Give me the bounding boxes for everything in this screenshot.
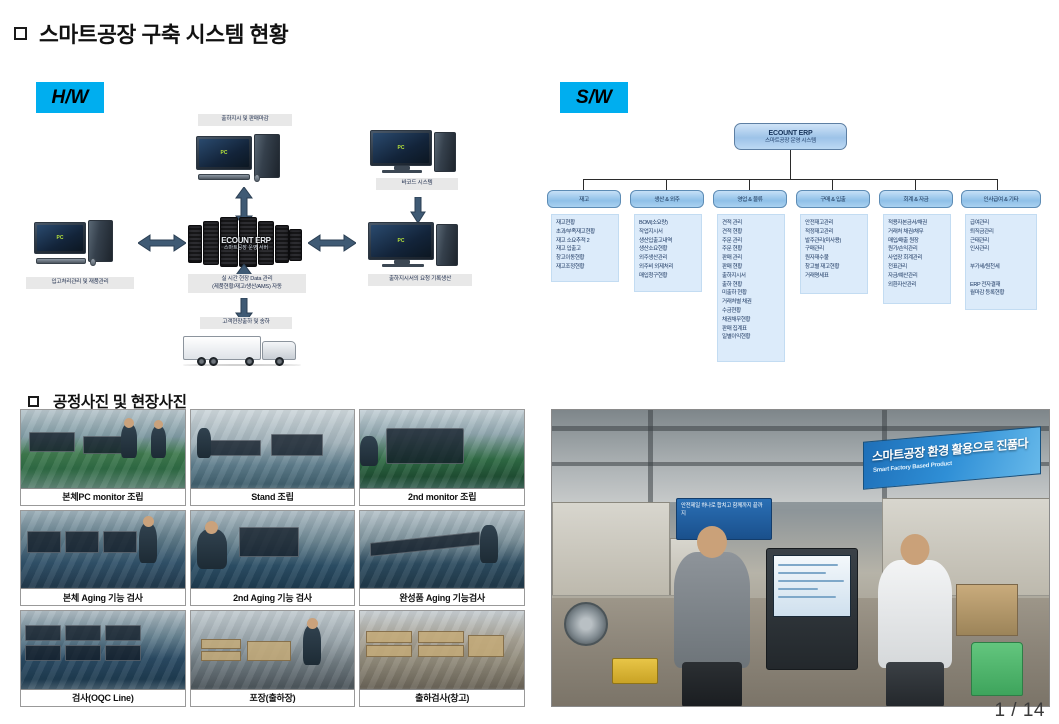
section-chip-software: S/W <box>560 82 628 113</box>
factory-person-left-legs <box>682 662 742 707</box>
photo-caption: 완성품 Aging 기능검사 <box>360 588 524 605</box>
photo-cell: 검사(OQC Line) <box>20 610 186 707</box>
hw-label-bottom: 고객현장출하 및 송하 <box>200 317 292 329</box>
factory-person-left <box>674 552 750 668</box>
photo-cell: 본체 Aging 기능 검사 <box>20 510 186 607</box>
photo-cell: 출하검사(창고) <box>359 610 525 707</box>
sw-header-production[interactable]: 생산 & 외주 <box>630 190 704 208</box>
photo-caption: 본체 Aging 기능 검사 <box>21 588 185 605</box>
roof-column <box>648 410 653 502</box>
hw-label-top: 출하지시 및 판매마감 <box>198 114 292 126</box>
hardware-architecture-diagram: 출하지시 및 판매마감 입고처리관리 및 재품관리 ECOUNT ERP <box>20 112 520 374</box>
hw-arrow-right-vertical <box>410 197 426 223</box>
photo-cell: 2nd Aging 기능 검사 <box>190 510 356 607</box>
factory-kiosk-terminal <box>766 548 858 670</box>
hw-device-top-pc <box>192 134 298 184</box>
sw-header-inventory[interactable]: 재고 <box>547 190 621 208</box>
page-number: 1 / 14 <box>994 700 1045 722</box>
bullet-square-icon-2 <box>28 396 39 407</box>
photo-caption: 2nd Aging 기능 검사 <box>191 588 355 605</box>
photo-caption: 출하검사(창고) <box>360 689 524 706</box>
sw-items-hr: 급여관리 퇴직금관리 근태관리 인사관리 부가세/원천세 ERP 전자결재 월마… <box>965 214 1037 310</box>
bullet-square-icon <box>14 27 27 40</box>
hw-label-left: 입고처리관리 및 재품관리 <box>26 277 134 289</box>
photo-caption: 검사(OQC Line) <box>21 689 185 706</box>
process-photo-grid: 본체PC monitor 조립 Stand 조립 2nd monitor 조립 … <box>20 409 525 707</box>
hw-device-barcode-monitor <box>370 130 464 176</box>
hw-arrow-left <box>138 234 186 252</box>
photo-caption: 포장(출하장) <box>191 689 355 706</box>
sw-items-sales: 견적 관리 견적 현황 주문 관리 주문 현황 판매 관리 판매 현황 출하지시… <box>717 214 785 362</box>
hw-device-left-pc <box>32 220 136 272</box>
sw-root-subtitle: 스마트공장 운영 시스템 <box>765 136 816 144</box>
factory-safety-sign-text: 안전제일 하나로 합치고 함께까지 끝까지 <box>681 502 767 518</box>
hw-arrow-right <box>308 234 356 252</box>
sw-connector-bus <box>583 179 998 180</box>
sw-header-purchasing[interactable]: 구매 & 입출 <box>796 190 870 208</box>
section-chip-hardware: H/W <box>36 82 104 113</box>
factory-yellow-bin <box>612 658 658 684</box>
factory-wall-left <box>552 502 670 596</box>
factory-site-photo: 스마트공장 환경 활용으로 진품다 Smart Factory Based Pr… <box>551 409 1050 707</box>
sw-header-sales[interactable]: 영업 & 물류 <box>713 190 787 208</box>
photo-cell: 완성품 Aging 기능검사 <box>359 510 525 607</box>
photo-caption: 본체PC monitor 조립 <box>21 488 185 505</box>
hw-device-delivery-truck <box>183 334 311 370</box>
factory-green-chair <box>971 642 1023 696</box>
photo-cell: Stand 조립 <box>190 409 356 506</box>
hw-label-right-bottom: 출하지시서의 요청 기록생산 <box>368 274 472 286</box>
hw-central-server: ECOUNT ERP 스마트공장 운영 서버 <box>188 217 304 269</box>
software-module-chart: ECOUNT ERP 스마트공장 운영 시스템 재고 생산 & 외주 영업 & … <box>545 118 1050 378</box>
hw-server-subtitle: 스마트공장 운영 서버 <box>188 244 304 251</box>
photo-cell: 포장(출하장) <box>190 610 356 707</box>
factory-person-right-legs <box>886 662 944 707</box>
sw-items-production: BOM(소요량) 작업지시서 생산입출고내역 생산소요현황 외주생산관리 외주비… <box>634 214 702 292</box>
sw-root-node: ECOUNT ERP 스마트공장 운영 시스템 <box>734 123 847 150</box>
factory-person-right <box>878 560 952 668</box>
hw-label-center-bottom: 실 시간 현장 Data 관리 (제품현황/재고/생산/AMS) 자동 <box>188 274 306 293</box>
page-title-text: 스마트공장 구축 시스템 현황 <box>39 18 288 49</box>
photo-caption: 2nd monitor 조립 <box>360 488 524 505</box>
hw-label-right-top: 바코드 시스템 <box>376 178 458 190</box>
sw-items-purchasing: 안전재고관리 적정재고관리 발주관리(미사용) 구매관리 원자재수불 창고별 재… <box>800 214 868 294</box>
factory-fan-icon <box>564 602 608 646</box>
sw-header-hr[interactable]: 인사급여 & 기타 <box>961 190 1041 208</box>
kiosk-screen <box>773 555 851 617</box>
sw-items-accounting: 적용자본금서/채권 거래처 채권/채무 매입/매출 원장 원가/손익관리 사업장… <box>883 214 951 304</box>
photo-cell: 2nd monitor 조립 <box>359 409 525 506</box>
sw-connector-trunk <box>790 150 791 180</box>
sw-header-accounting[interactable]: 회계 & 자금 <box>879 190 953 208</box>
factory-pallet <box>956 584 1018 636</box>
photo-caption: Stand 조립 <box>191 488 355 505</box>
sw-items-inventory: 재고현황 초과/부족재고현황 재고 소요추적 2 재고 입출고 창고이동현황 재… <box>551 214 619 282</box>
hw-device-production-monitor <box>368 222 466 270</box>
page-title: 스마트공장 구축 시스템 현황 <box>14 18 288 49</box>
roof-beam <box>552 426 1049 431</box>
photo-cell: 본체PC monitor 조립 <box>20 409 186 506</box>
